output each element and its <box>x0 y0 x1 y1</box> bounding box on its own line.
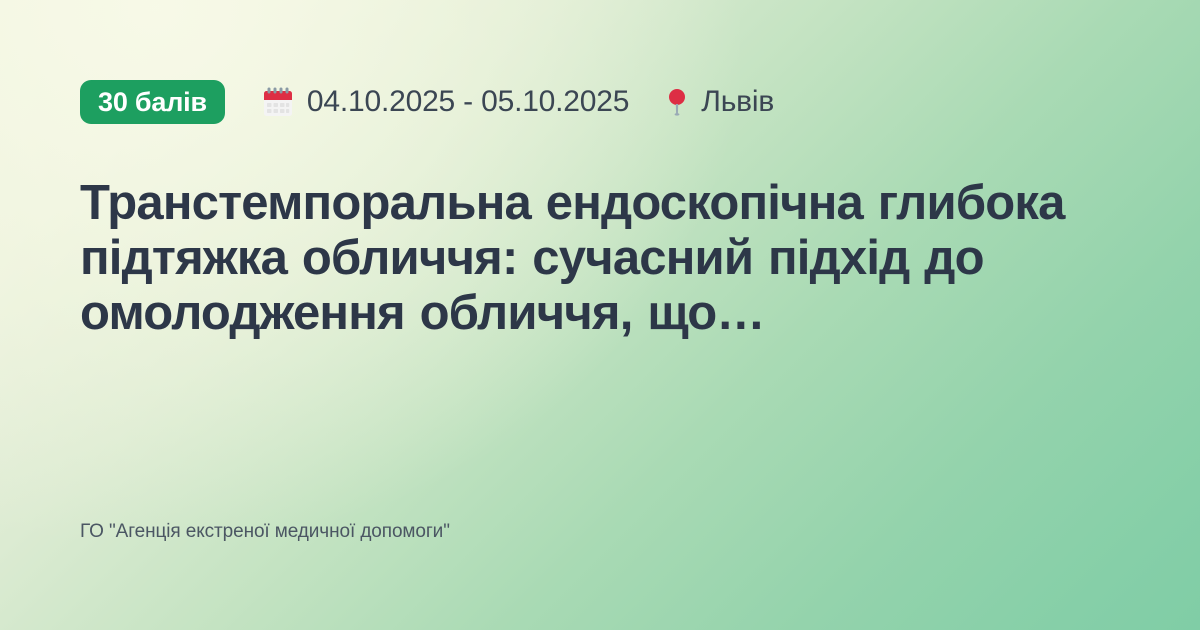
event-card: 30 балів <box>0 0 1200 630</box>
calendar-icon <box>263 86 293 118</box>
location-pin-icon <box>667 86 687 118</box>
points-badge: 30 балів <box>80 80 225 124</box>
card-content: 30 балів <box>0 0 1200 630</box>
event-city: Львів <box>701 87 774 117</box>
event-date-range: 04.10.2025 - 05.10.2025 <box>307 87 629 117</box>
meta-row: 30 балів <box>80 78 1120 126</box>
page-title: Транстемпоральна ендоскопічна глибока пі… <box>80 176 1120 341</box>
organizer-name: ГО "Агенція екстреної медичної допомоги" <box>80 522 450 541</box>
event-location: Львів <box>667 86 774 118</box>
event-dates: 04.10.2025 - 05.10.2025 <box>263 86 629 118</box>
